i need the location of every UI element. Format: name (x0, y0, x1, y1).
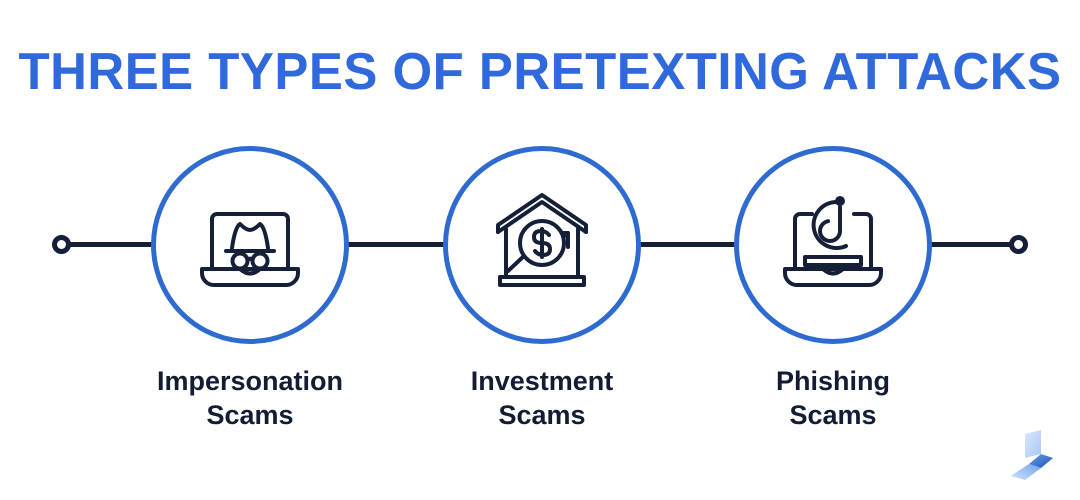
label-line-1: Phishing (776, 366, 890, 396)
label-line-1: Impersonation (157, 366, 343, 396)
label-line-2: Scams (100, 398, 400, 432)
label-line-2: Scams (683, 398, 983, 432)
label-investment: Investment Scams (392, 364, 692, 432)
infographic-canvas: THREE TYPES OF PRETEXTING ATTACKS (0, 0, 1080, 500)
bank-dollar-growth-icon (482, 185, 602, 305)
node-investment[interactable] (443, 146, 641, 344)
page-title: THREE TYPES OF PRETEXTING ATTACKS (11, 44, 1069, 100)
node-impersonation[interactable] (151, 146, 349, 344)
ring-endpoint-left-icon (52, 235, 71, 254)
laptop-fishing-hook-icon (773, 185, 893, 305)
ring-endpoint-right-icon (1009, 235, 1028, 254)
chevron-ribbon-logo (1003, 428, 1059, 484)
label-line-2: Scams (392, 398, 692, 432)
label-line-1: Investment (471, 366, 614, 396)
label-phishing: Phishing Scams (683, 364, 983, 432)
label-impersonation: Impersonation Scams (100, 364, 400, 432)
node-phishing[interactable] (734, 146, 932, 344)
laptop-incognito-hat-icon (190, 185, 310, 305)
